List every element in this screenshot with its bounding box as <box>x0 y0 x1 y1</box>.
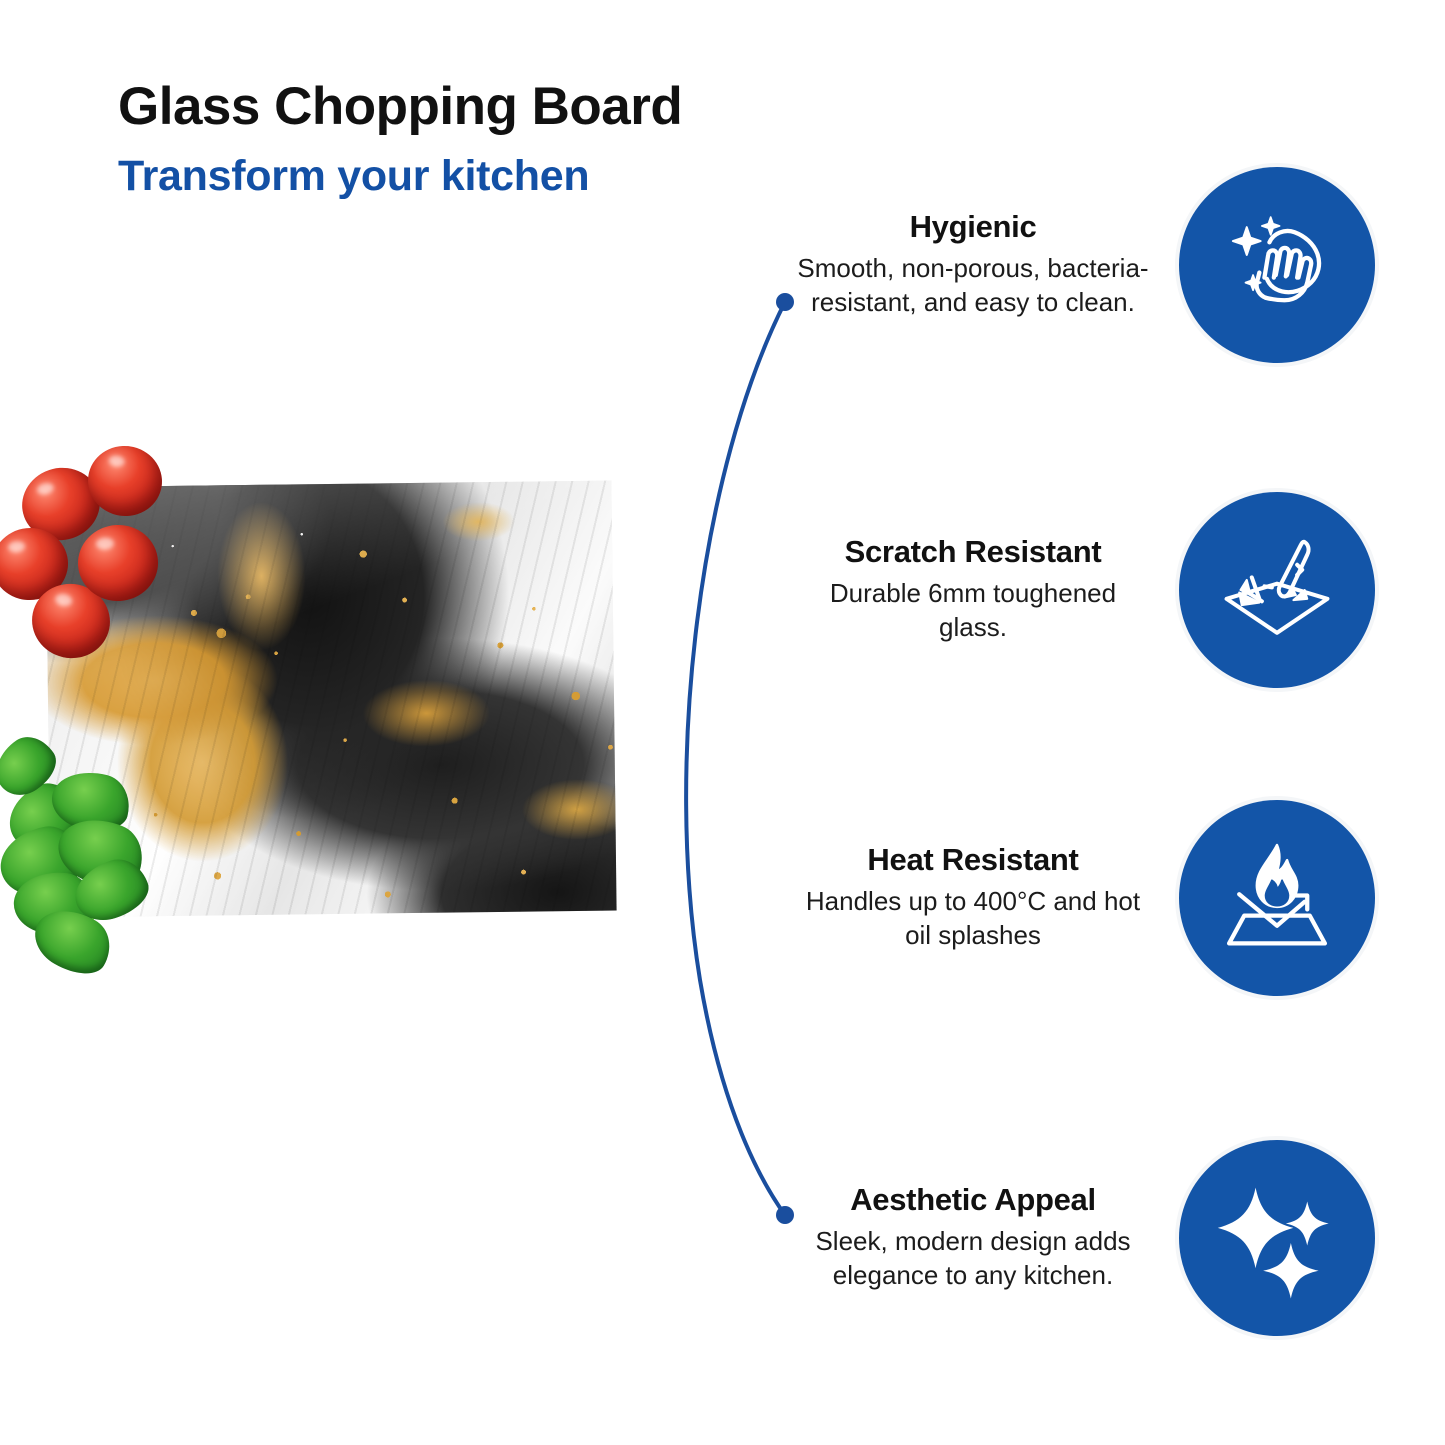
connector-endpoint-top <box>776 293 794 311</box>
cleaning-hand-sparkle-icon <box>1179 167 1375 363</box>
feature-row-aesthetic-appeal: Aesthetic Appeal Sleek, modern design ad… <box>793 1140 1375 1336</box>
feature-description: Handles up to 400°C and hot oil splashes <box>793 884 1153 953</box>
sparkles-icon <box>1179 1140 1375 1336</box>
feature-text: Heat Resistant Handles up to 400°C and h… <box>793 843 1153 953</box>
feature-row-heat-resistant: Heat Resistant Handles up to 400°C and h… <box>793 800 1375 996</box>
feature-title: Hygienic <box>793 210 1153 245</box>
infographic-canvas: Glass Chopping Board Transform your kitc… <box>0 0 1445 1445</box>
feature-description: Smooth, non-porous, bacteria-resistant, … <box>793 251 1153 320</box>
feature-title: Scratch Resistant <box>793 535 1153 570</box>
feature-title: Heat Resistant <box>793 843 1153 878</box>
feature-description: Sleek, modern design adds elegance to an… <box>793 1224 1153 1293</box>
feature-row-scratch-resistant: Scratch Resistant Durable 6mm toughened … <box>793 492 1375 688</box>
knife-impact-surface-icon <box>1179 492 1375 688</box>
feature-text: Scratch Resistant Durable 6mm toughened … <box>793 535 1153 645</box>
feature-row-hygienic: Hygienic Smooth, non-porous, bacteria-re… <box>793 167 1375 363</box>
flame-deflect-surface-icon <box>1179 800 1375 996</box>
connector-endpoint-bottom <box>776 1206 794 1224</box>
feature-text: Hygienic Smooth, non-porous, bacteria-re… <box>793 210 1153 320</box>
feature-description: Durable 6mm toughened glass. <box>793 576 1153 645</box>
feature-text: Aesthetic Appeal Sleek, modern design ad… <box>793 1183 1153 1293</box>
feature-title: Aesthetic Appeal <box>793 1183 1153 1218</box>
connector-path <box>686 302 785 1215</box>
